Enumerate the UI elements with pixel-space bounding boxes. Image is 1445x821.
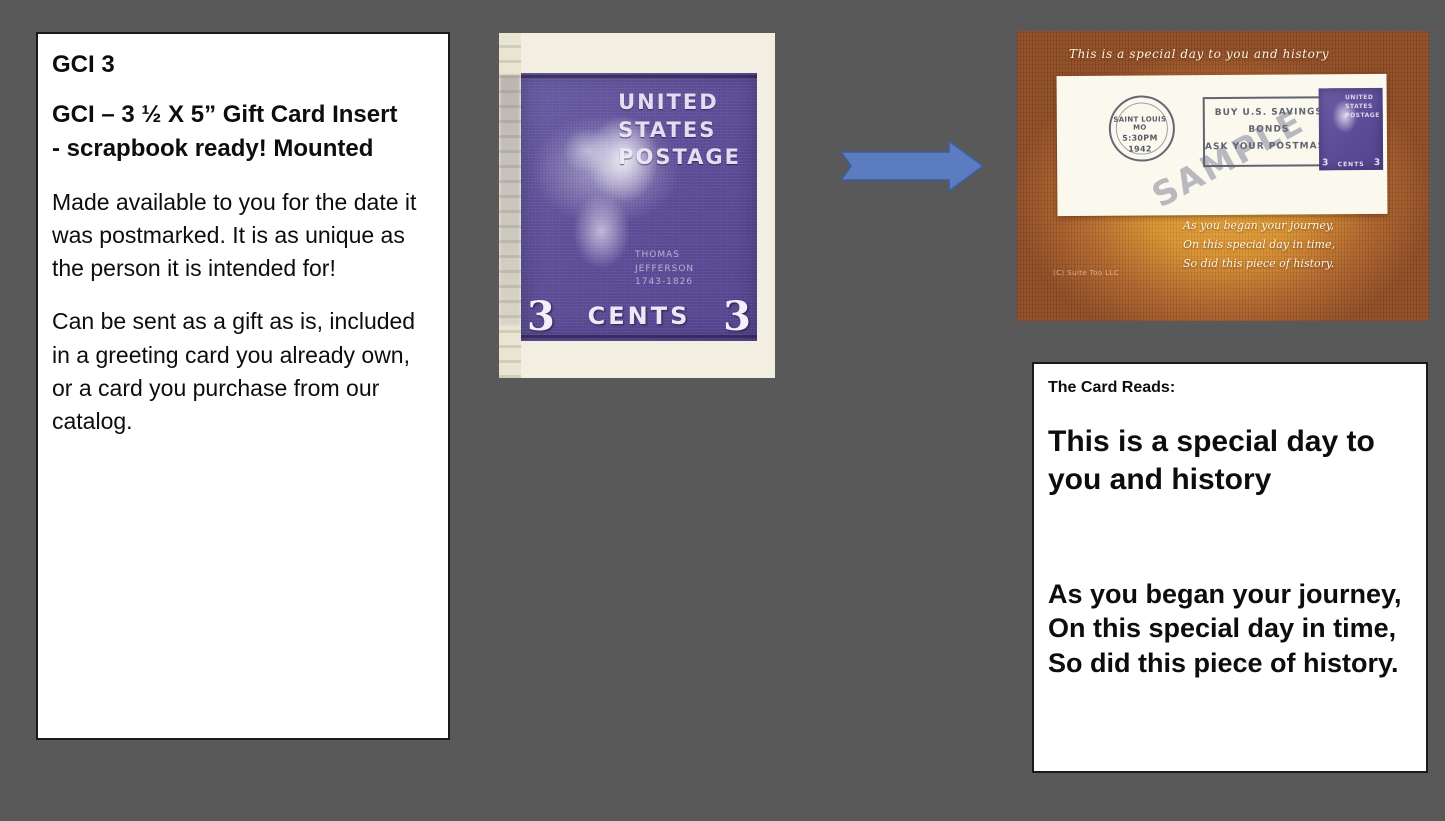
cover-stamp: UNITED STATES POSTAGE 3 CENTS 3	[1319, 88, 1384, 170]
subtitle-line-1: GCI – 3 ½ X 5” Gift Card Insert	[52, 101, 397, 128]
right-arrow-icon	[841, 140, 984, 192]
stamp-country-text: UNITED STATES POSTAGE	[618, 89, 741, 172]
card-reads-verse-line-1: As you began your journey,	[1048, 579, 1402, 609]
slogan-cancel-box: BUY U.S. SAVINGS BONDS ASK YOUR POSTMAST…	[1203, 96, 1335, 167]
card-reads-panel: The Card Reads: This is a special day to…	[1032, 362, 1428, 773]
engraver-line-1: THOMAS	[635, 250, 680, 260]
postal-cover-clipping: SAINT LOUIS MO 5:30PM 1942 BUY U.S. SAVI…	[1057, 74, 1388, 216]
panel-subtitle: GCI – 3 ½ X 5” Gift Card Insert - scrapb…	[52, 98, 434, 166]
slogan-line-3: ASK YOUR POSTMASTER	[1205, 138, 1333, 156]
engraver-line-3: 1743-1826	[635, 277, 693, 287]
gift-card-photo: This is a special day to you and history…	[1017, 31, 1429, 321]
slogan-line-2: BONDS	[1205, 121, 1333, 139]
card-header-script: This is a special day to you and history	[1069, 47, 1329, 61]
cover-stamp-country-line-1: UNITED	[1345, 94, 1373, 101]
card-verse-line-3: So did this piece of history.	[1183, 257, 1334, 270]
card-verse-line-2: On this special day in time,	[1183, 238, 1335, 251]
stamp-perforation-strip	[499, 33, 521, 378]
slogan-line-1: BUY U.S. SAVINGS	[1205, 104, 1333, 122]
panel-title: GCI 3	[52, 50, 434, 80]
stamp-cancel-line-top	[521, 75, 757, 78]
stamp-denomination-word: CENTS	[588, 302, 691, 330]
card-reads-verse: As you began your journey, On this speci…	[1048, 577, 1412, 681]
cover-stamp-denom-left: 3	[1322, 158, 1328, 168]
description-paragraph-2: Can be sent as a gift as is, included in…	[52, 305, 434, 437]
card-verse-line-1: As you began your journey,	[1183, 219, 1334, 232]
card-verse-script: As you began your journey, On this speci…	[1183, 217, 1335, 274]
card-reads-verse-line-2: On this special day in time,	[1048, 613, 1396, 643]
cover-stamp-country: UNITED STATES POSTAGE	[1345, 93, 1380, 120]
stamp-country-line-3: POSTAGE	[618, 145, 741, 169]
stamp-edge-shadow	[500, 75, 520, 325]
flow-arrow	[841, 140, 984, 192]
card-reads-headline: This is a special day to you and history	[1048, 423, 1412, 499]
postmark-city: SAINT LOUIS MO	[1111, 115, 1169, 131]
subtitle-line-2: - scrapbook ready! Mounted	[52, 135, 373, 162]
cover-stamp-country-line-3: POSTAGE	[1345, 112, 1380, 119]
description-paragraph-1: Made available to you for the date it wa…	[52, 186, 434, 285]
cover-stamp-country-line-2: STATES	[1345, 103, 1373, 110]
stamp-denomination-left: 3	[527, 293, 555, 340]
cover-stamp-denomination: 3 CENTS 3	[1319, 158, 1383, 168]
stamp-country-line-1: UNITED	[618, 90, 719, 114]
description-panel: GCI 3 GCI – 3 ½ X 5” Gift Card Insert - …	[36, 32, 450, 740]
stamp-denomination-right: 3	[723, 293, 751, 340]
stamp-photo: UNITED STATES POSTAGE THOMAS JEFFERSON 1…	[499, 33, 775, 378]
cover-stamp-denom-word: CENTS	[1338, 161, 1365, 168]
engraver-line-2: JEFFERSON	[635, 264, 694, 274]
postmark-year: 1942	[1111, 144, 1169, 153]
postmark-time: 5:30PM	[1111, 133, 1169, 142]
card-reads-label: The Card Reads:	[1048, 378, 1412, 397]
stamp-face: UNITED STATES POSTAGE THOMAS JEFFERSON 1…	[521, 73, 757, 341]
card-copyright: (C) Suite Too LLC	[1053, 269, 1119, 277]
stamp-country-line-2: STATES	[618, 118, 716, 142]
stamp-engraver-text: THOMAS JEFFERSON 1743-1826	[635, 249, 735, 290]
stamp-denomination-bar: 3 CENTS 3	[521, 291, 757, 341]
postmark-text: SAINT LOUIS MO 5:30PM 1942	[1111, 98, 1169, 154]
card-reads-verse-line-3: So did this piece of history.	[1048, 648, 1399, 678]
cover-stamp-denom-right: 3	[1374, 158, 1380, 168]
